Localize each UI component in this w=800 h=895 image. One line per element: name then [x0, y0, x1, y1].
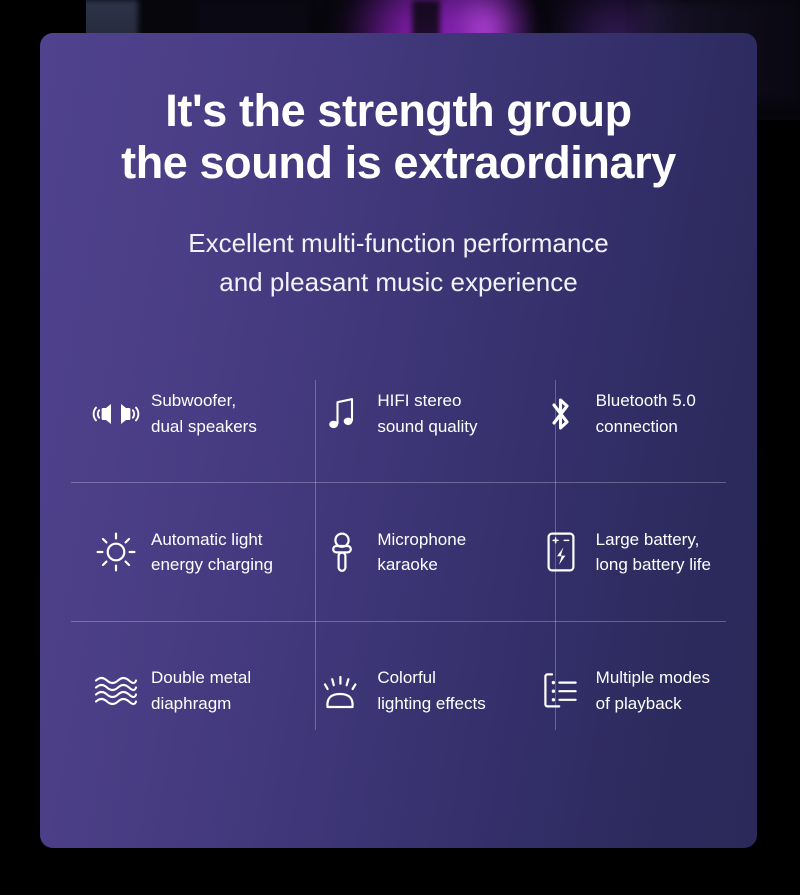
page-subtitle: Excellent multi-function performance and… [40, 224, 757, 301]
feature-item-battery: Large battery, long battery life [508, 483, 726, 621]
feature-item-diaphragm: Double metal diaphragm [71, 622, 289, 760]
feature-item-subwoofer: Subwoofer, dual speakers [71, 345, 289, 483]
feature-item-playback-modes: Multiple modes of playback [508, 622, 726, 760]
sound-waves-icon [93, 668, 139, 714]
dual-speaker-icon [93, 391, 139, 437]
subtitle-line-1: Excellent multi-function performance [188, 228, 609, 258]
feature-label: Automatic light energy charging [151, 527, 273, 579]
feature-grid: Subwoofer, dual speakers HIFI stereo sou… [71, 345, 726, 760]
feature-item-microphone: Microphone karaoke [289, 483, 507, 621]
feature-label: Double metal diaphragm [151, 665, 251, 717]
feature-item-lighting-effects: Colorful lighting effects [289, 622, 507, 760]
microphone-icon [319, 529, 365, 575]
bluetooth-icon [538, 391, 584, 437]
battery-charging-icon [538, 529, 584, 575]
feature-item-hifi-stereo: HIFI stereo sound quality [289, 345, 507, 483]
headline-line-1: It's the strength group [165, 85, 632, 136]
feature-label: Subwoofer, dual speakers [151, 388, 257, 440]
playlist-icon [538, 668, 584, 714]
feature-label: Multiple modes of playback [596, 665, 710, 717]
feature-item-light-charging: Automatic light energy charging [71, 483, 289, 621]
headline-line-2: the sound is extraordinary [66, 137, 731, 189]
music-note-icon [319, 391, 365, 437]
feature-item-bluetooth: Bluetooth 5.0 connection [508, 345, 726, 483]
feature-label: Large battery, long battery life [596, 527, 711, 579]
feature-card: It's the strength group the sound is ext… [40, 33, 757, 848]
sun-icon [93, 529, 139, 575]
page-title: It's the strength group the sound is ext… [40, 85, 757, 189]
product-feature-banner: It's the strength group the sound is ext… [0, 0, 800, 895]
subtitle-line-2: and pleasant music experience [80, 263, 717, 301]
feature-label: Microphone karaoke [377, 527, 466, 579]
feature-label: Colorful lighting effects [377, 665, 485, 717]
feature-label: Bluetooth 5.0 connection [596, 388, 696, 440]
lamp-light-icon [319, 668, 365, 714]
feature-label: HIFI stereo sound quality [377, 388, 477, 440]
